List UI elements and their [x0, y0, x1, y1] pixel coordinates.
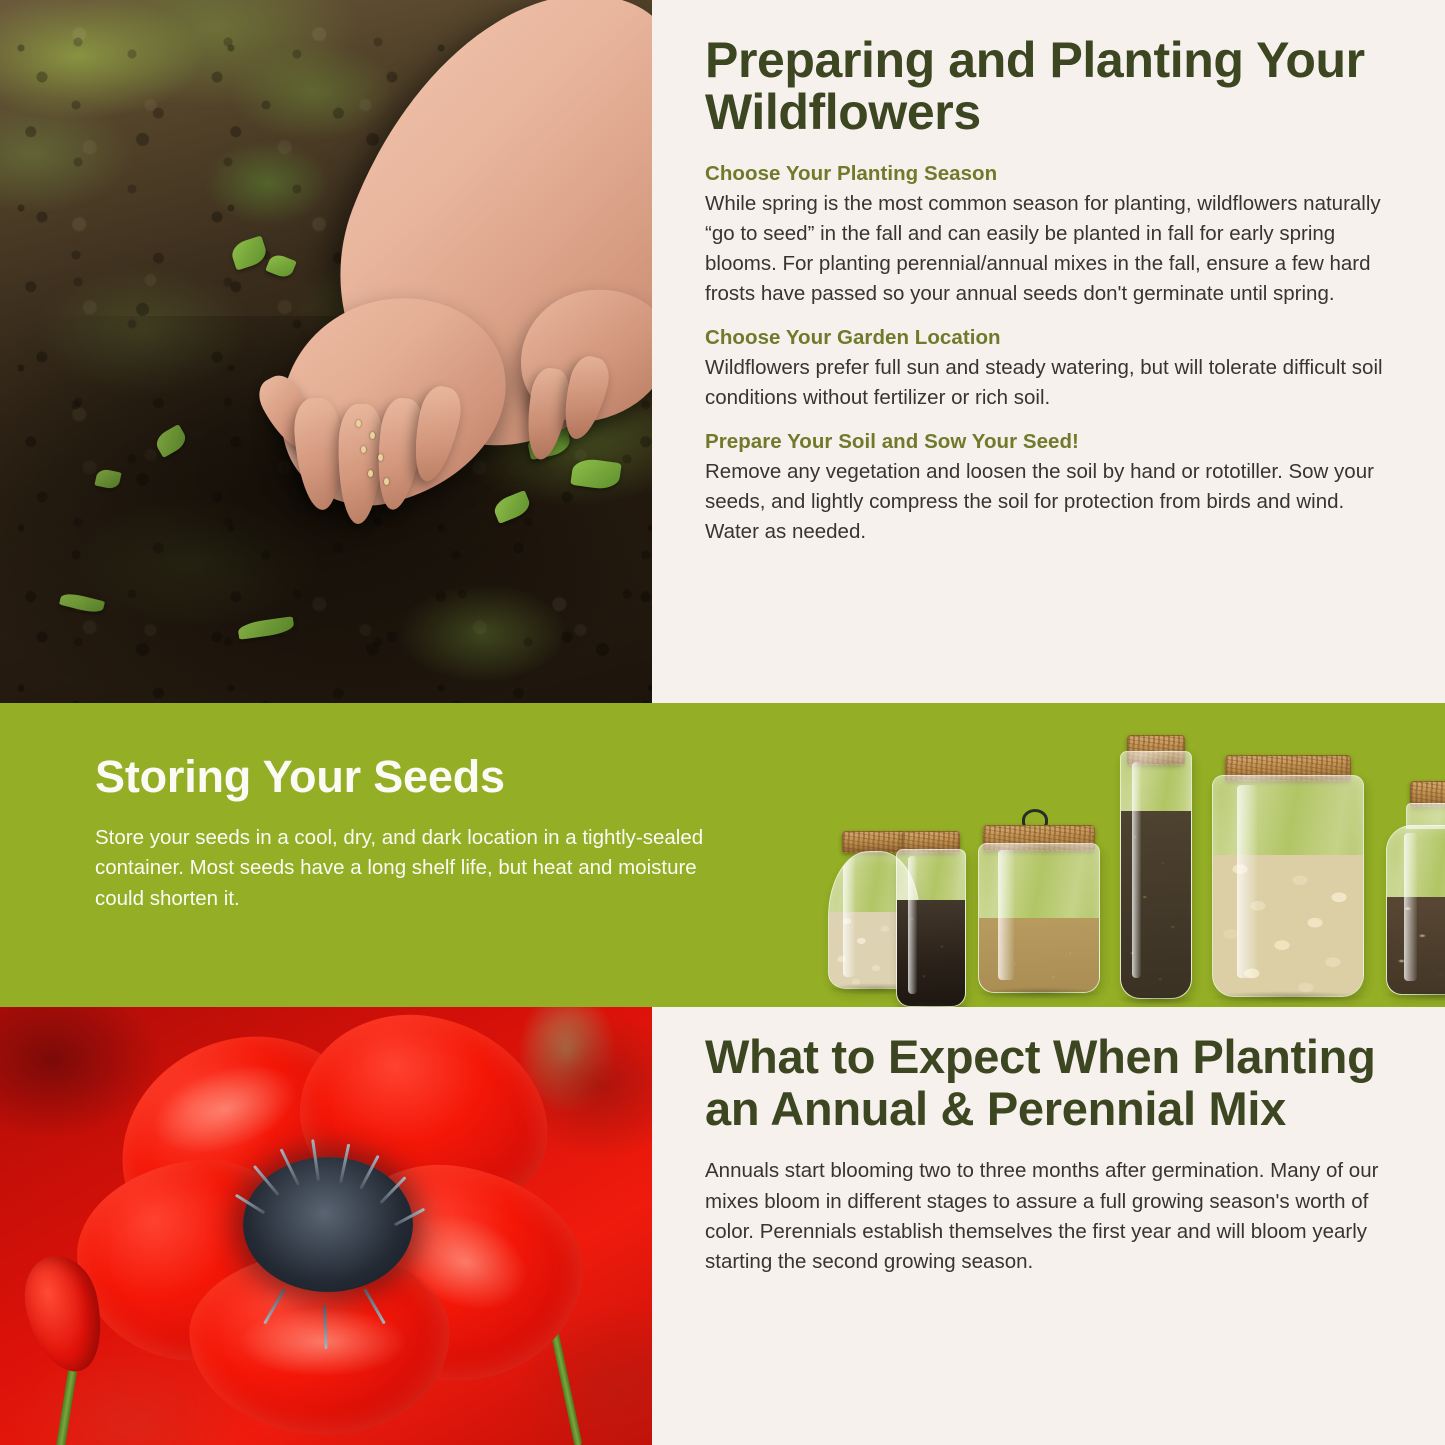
jar-pumpkin-seeds	[1212, 775, 1364, 997]
jar-shadow	[974, 987, 1104, 999]
subheading-garden-location: Choose Your Garden Location	[705, 326, 1383, 351]
subheading-prepare-soil: Prepare Your Soil and Sow Your Seed!	[705, 430, 1383, 455]
poppy-center	[243, 1157, 413, 1292]
what-to-expect-section: What to Expect When Planting an Annual &…	[0, 1007, 1445, 1445]
expect-title: What to Expect When Planting an Annual &…	[705, 1031, 1383, 1134]
jar-tall-dark-seeds	[1120, 751, 1192, 999]
expect-text-panel: What to Expect When Planting an Annual &…	[652, 1007, 1445, 1445]
storing-seeds-section: Storing Your Seeds Store your seeds in a…	[0, 703, 1445, 1007]
paragraph-prepare-soil: Remove any vegetation and loosen the soi…	[705, 457, 1383, 547]
paragraph-garden-location: Wildflowers prefer full sun and steady w…	[705, 353, 1383, 413]
jar-tan-grain	[978, 843, 1100, 993]
expect-paragraph: Annuals start blooming two to three mont…	[705, 1156, 1383, 1277]
jar-shadow	[1116, 993, 1198, 1005]
paragraph-planting-season: While spring is the most common season f…	[705, 189, 1383, 310]
hand-sowing-seeds-in-soil-photo	[0, 0, 652, 703]
glass-jars-of-seeds-photo	[820, 737, 1387, 1007]
jar-sunflower-seeds	[1386, 809, 1445, 995]
falling-seeds	[352, 418, 422, 488]
jar-black-seeds	[896, 849, 966, 1007]
subheading-planting-season: Choose Your Planting Season	[705, 162, 1383, 187]
storing-paragraph: Store your seeds in a cool, dry, and dar…	[95, 823, 710, 913]
infographic-page: Preparing and Planting Your Wildflowers …	[0, 0, 1445, 1445]
planting-section: Preparing and Planting Your Wildflowers …	[0, 0, 1445, 703]
planting-text-panel: Preparing and Planting Your Wildflowers …	[652, 0, 1445, 703]
page-title: Preparing and Planting Your Wildflowers	[705, 34, 1383, 138]
jar-shadow	[1208, 991, 1370, 1003]
red-poppy-flower-photo	[0, 1007, 652, 1445]
